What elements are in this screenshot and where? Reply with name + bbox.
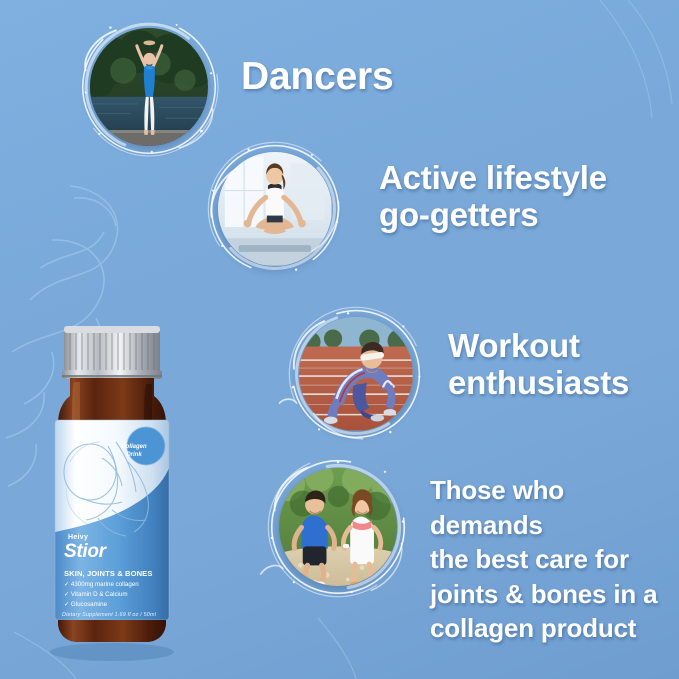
headline-workout: Workout enthusiasts: [448, 328, 629, 402]
ballerina-photo: [90, 28, 209, 147]
meditation-photo: [218, 152, 332, 266]
headline-active-lifestyle: Active lifestyle go-getters: [379, 160, 607, 234]
infographic-canvas: Dancers Active lifestyle go-getters Work…: [0, 0, 679, 679]
benefit-photo-workout: [290, 308, 422, 440]
benefit-photo-active-lifestyle: [209, 143, 341, 275]
jogging-couple-photo: [279, 468, 398, 587]
benefit-photo-best-care: [269, 458, 407, 596]
product-bottle: [42, 322, 182, 662]
headline-best-care: Those who demands the best care for join…: [430, 473, 679, 646]
benefit-photo-dancers: [80, 18, 218, 156]
headline-dancers: Dancers: [241, 55, 394, 99]
runner-start-photo: [299, 317, 413, 431]
